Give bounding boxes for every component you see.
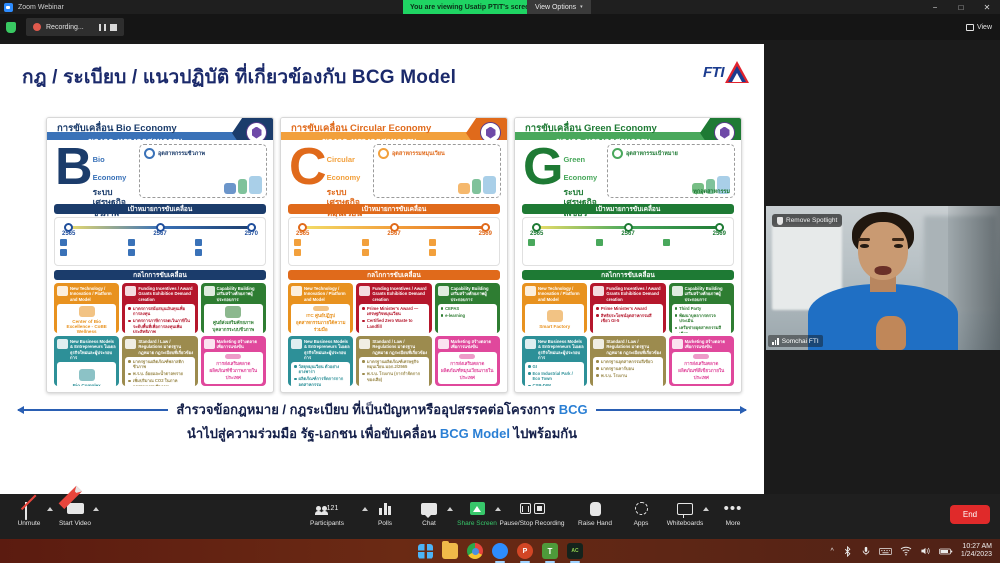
toolbar-whiteboards-button[interactable]: Whiteboards [658, 499, 712, 527]
toolbar-more-button[interactable]: •••More [706, 499, 760, 527]
timeline-bar [298, 226, 490, 229]
mechanism-cell: Standard / Law / Regulations มาตรฐาน กฎห… [590, 336, 665, 386]
milestone-icon [362, 239, 369, 246]
mechanism-header-text: New Technology / Innovation / Platform a… [538, 286, 584, 302]
mechanism-bullet-text: GI [533, 364, 537, 369]
mechanism-bullet-text: Third Party [679, 306, 701, 311]
mechanism-cell-body: CEPASe-learning [438, 304, 497, 333]
toolbar-icon-wrap [677, 499, 693, 518]
milestone-icon [528, 239, 535, 246]
mechanism-header-text: Funding Incentives / Award Grants Exhibi… [138, 286, 194, 302]
mechanism-icon [525, 286, 536, 296]
mechanism-cell: New Business Models & Entrepreneurs โมเด… [54, 336, 119, 386]
mechanism-bullet-text: Certified Zero Waste to Landfill [367, 318, 426, 329]
timeline-years: 256525672570 [62, 231, 258, 237]
timeline-milestone [294, 249, 359, 256]
speaker-brow-right [892, 238, 904, 241]
mechanism-cell-body: วัสดุหมุนเวียน ตัวอย่างยางพาราผลิตภัณฑ์ก… [291, 362, 350, 386]
remove-spotlight-button[interactable]: Remove Spotlight [772, 214, 842, 227]
recording-bar: Recording... View [0, 14, 1000, 40]
toolbar-start-video-label: Start Video [59, 520, 91, 527]
timeline-milestone [429, 249, 494, 256]
mechanism-bullet: Prime Minister's Award [596, 306, 659, 311]
mechanism-bullet-text: สิทธิประโยชน์อุตสาหกรรมสีเขียว GI-5 [601, 313, 660, 324]
timeline-year: 2570 [245, 231, 258, 237]
mechanism-cell-header: Funding Incentives / Award Grants Exhibi… [125, 286, 194, 302]
spotlight-icon [777, 217, 783, 225]
timeline-milestone-column [60, 239, 125, 259]
milestone-text [69, 239, 125, 246]
card-timeline-title: เป้าหมายการขับเคลื่อน [522, 204, 734, 214]
mechanism-bullet: วัสดุหมุนเวียน ตัวอย่างยางพารา [294, 364, 347, 375]
mechanism-cell-header: Capability Building เสริมสร้างศักยภาพผู้… [438, 286, 497, 302]
taskbar-clock[interactable]: 10:27 AM 1/24/2023 [961, 543, 992, 559]
chrome-icon[interactable] [467, 543, 483, 559]
mechanism-cell-header: New Technology / Innovation / Platform a… [291, 286, 350, 302]
timeline-milestone [60, 239, 125, 246]
participants-count: 121 [327, 505, 339, 512]
mechanism-illustration [79, 306, 95, 317]
mechanism-illustration [225, 306, 241, 318]
mechanism-icon [57, 339, 68, 349]
mechanism-bullet: มาตรฐานผลิตภัณฑ์พลาสติกชีวภาพ [128, 359, 191, 370]
timeline-milestone-column [294, 239, 359, 259]
mechanism-cell: New Technology / Innovation / Platform a… [522, 283, 587, 333]
timeline-milestone [362, 249, 427, 256]
mechanism-icon [204, 286, 215, 296]
mechanism-cell-body: มาตรฐานอุตสาหกรรมสีเขียวมาตรฐานคาร์บอนพ.… [593, 357, 662, 386]
milestone-text [204, 249, 260, 256]
mechanism-cell-header: Marketing สร้างตลาดเพื่อการแข่งขัน [204, 339, 263, 350]
mechanism-cell-body: Prime Minister's Award — เศรษฐกิจหมุนเวี… [359, 304, 428, 333]
recording-status-label: Recording... [46, 24, 84, 31]
system-tray: ^ 10:27 AM 1/24/2023 [831, 543, 992, 559]
mechanism-body-label: Center of Bio Excellence - CoBE Wellness [60, 319, 113, 333]
milestone-icon [60, 249, 67, 256]
card-name-en: GreenEconomy [563, 155, 597, 182]
infographic-card-b: การขับเคลื่อน Bio Economyของกระทรวงอุตสา… [46, 117, 274, 393]
mechanism-cell: Marketing สร้างตลาดเพื่อการแข่งขันการส่ง… [201, 336, 266, 386]
view-button[interactable]: View [966, 20, 992, 34]
timeline-milestone [362, 239, 427, 246]
mechanism-header-text: Standard / Law / Regulations มาตรฐาน กฎห… [372, 339, 428, 355]
toolbar-icon-wrap [520, 499, 545, 518]
close-button[interactable]: ✕ [974, 0, 1000, 14]
timeline-milestone [528, 239, 593, 246]
mechanism-bullet: มาตรฐานคาร์บอน [596, 366, 659, 371]
mechanism-cell: New Business Models & Entrepreneurs โมเด… [522, 336, 587, 386]
people-icon [316, 506, 327, 511]
autocad-icon[interactable]: AC [567, 543, 583, 559]
timeline-milestone-column [195, 239, 260, 259]
conclusion-line-2: นำไปสู่ความร่วมมือ รัฐ-เอกชน เพื่อขับเคล… [0, 423, 764, 444]
conclusion-line-1: สำรวจข้อกฎหมาย / กฎระเบียบ ที่เป็นปัญหาห… [168, 399, 595, 420]
timeline-year: 2567 [621, 231, 634, 237]
timeline-milestone [294, 239, 359, 246]
timeline-milestone [195, 249, 260, 256]
toolbar-icon-wrap [421, 499, 437, 518]
timeline-milestones [294, 239, 494, 259]
wifi-icon[interactable] [900, 546, 912, 556]
mechanism-icon [291, 339, 302, 349]
window-controls: − □ ✕ [922, 0, 1000, 14]
mechanism-bullet-text: Prime Minister's Award — เศรษฐกิจหมุนเวี… [367, 306, 426, 317]
timeline-milestone-column [596, 239, 661, 249]
milestone-icon [596, 239, 603, 246]
mechanism-bullet: Certified Zero Waste to Landfill [362, 318, 425, 329]
infographic-card-c: การขับเคลื่อน Circular Economyของกระทรวง… [280, 117, 508, 393]
card-goal-label-2: ทุกอุตสาหกรรม [693, 188, 730, 196]
mechanism-body-label: การส่งเสริมตลาดผลิตภัณฑ์ชีวภาพภายในประเท… [207, 361, 260, 382]
mechanism-header-text: Funding Incentives / Award Grants Exhibi… [606, 286, 662, 302]
speaker-brow-left [858, 238, 870, 241]
zoom-toolbar: End UnmuteStart Video121ParticipantsPoll… [0, 494, 1000, 539]
maximize-button[interactable]: □ [948, 0, 974, 14]
mechanism-bullet: มาตรฐานอุตสาหกรรมสีเขียว [596, 359, 659, 364]
speech-bubble-icon [421, 503, 437, 515]
mechanism-header-text: Standard / Law / Regulations มาตรฐาน กฎห… [606, 339, 662, 355]
milestone-icon [60, 239, 67, 246]
mechanism-icon [359, 339, 370, 349]
timeline-milestone-column [663, 239, 728, 249]
timeline-milestone [663, 239, 728, 246]
mechanism-bullet-text: พ.ร.บ. โรงงาน (การกำจัดกากของเสีย) [367, 371, 426, 382]
infographic-card-g: การขับเคลื่อน Green Economyของกระทรวงอุต… [514, 117, 742, 393]
stop-icon[interactable] [110, 24, 117, 31]
card-name-th: ระบบเศรษฐกิจชีวภาพ [93, 187, 127, 218]
mechanism-bullet: GI [528, 364, 581, 369]
ministry-seal-icon [480, 122, 501, 140]
card-hero: BBioEconomyระบบเศรษฐกิจชีวภาพอุตสาหกรรมช… [47, 140, 273, 204]
mechanism-cell: New Business Models & Entrepreneurs โมเด… [288, 336, 353, 386]
speaker-eye-left [860, 244, 869, 248]
clock-time: 10:27 AM [962, 543, 992, 550]
mechanism-cell-body: Center of Bio Excellence - CoBE Wellness [57, 304, 116, 333]
zoom-webinar-window: Zoom Webinar You are viewing Usatip PTIT… [0, 0, 1000, 563]
mechanism-icon [204, 339, 215, 349]
mechanism-icon [125, 286, 136, 296]
mechanism-body-label: การส่งเสริมตลาดผลิตภัณฑ์สีเขียวภายในประเ… [675, 361, 728, 382]
toolbar-participants-label: Participants [310, 520, 344, 527]
zoom-logo-icon [4, 3, 13, 12]
mechanism-bullet-text: มาตรฐานคาร์บอน [601, 366, 634, 371]
toolbar-icon-wrap [67, 499, 84, 518]
mechanism-icon [438, 339, 449, 349]
mechanism-cell: Standard / Law / Regulations มาตรฐาน กฎห… [356, 336, 431, 386]
audio-signal-icon [772, 338, 779, 345]
mechanism-cell-body: Third Partyพัฒนาบุคลากรตรวจประเมินเครือข… [672, 304, 731, 333]
mechanism-header-text: Capability Building เสริมสร้างศักยภาพผู้… [217, 286, 263, 302]
milestone-icon [294, 249, 301, 256]
timeline-milestone [128, 239, 193, 246]
toolbar-icon-wrap [379, 499, 391, 518]
mechanism-cell-body: มาตรฐานผลิตภัณฑ์เศรษฐกิจหมุนเวียน มอก.2/… [359, 357, 428, 386]
mechanism-bullet-text: ผลิตภัณฑ์การจัดการกากอุตสาหกรรม [299, 376, 348, 386]
timeline-milestones [528, 239, 728, 249]
milestone-text [69, 249, 125, 256]
milestone-icon [429, 239, 436, 246]
card-mechanism-title: กลไกการขับเคลื่อน [288, 270, 500, 280]
show-hidden-icons-button[interactable]: ^ [831, 548, 834, 555]
arrow-left-icon [18, 409, 168, 411]
mechanism-cell-header: Marketing สร้างตลาดเพื่อการแข่งขัน [438, 339, 497, 350]
mechanism-body-label: การส่งเสริมตลาดผลิตภัณฑ์หมุนเวียนภายในปร… [441, 361, 494, 382]
mechanism-body-label: Smart Factory [539, 324, 570, 329]
card-goal: อุตสาหกรรมเป้าหมาย [612, 148, 730, 159]
ellipsis-icon: ••• [724, 505, 743, 513]
mechanism-illustration [225, 354, 241, 359]
target-icon [378, 148, 389, 159]
fti-triangle-icon [725, 61, 750, 84]
milestone-icon [128, 249, 135, 256]
mechanism-bullet: สิทธิประโยชน์อุตสาหกรรมสีเขียว GI-5 [596, 313, 659, 324]
mechanism-bullet-text: พัฒนาบุคลากรตรวจประเมิน [679, 313, 728, 324]
powerpoint-icon[interactable]: P [517, 543, 533, 559]
chevron-down-icon: ▾ [580, 4, 583, 10]
mechanism-header-text: New Technology / Innovation / Platform a… [304, 286, 350, 302]
timeline-milestone [60, 249, 125, 256]
mechanism-bullet-text: พ.ร.บ. โรงงาน [601, 373, 627, 378]
speaker-eye-right [894, 244, 903, 248]
minimize-button[interactable]: − [922, 0, 948, 14]
mechanism-bullet-text: เพิ่มปริมาณ CO2 ในภาคอุตสาหกรรมชีวภาพ [133, 378, 192, 386]
mechanism-header-text: New Technology / Innovation / Platform a… [70, 286, 116, 302]
card-timeline: 256525672569 [522, 217, 734, 266]
card-name-th: ระบบเศรษฐกิจหมุนเวียน [327, 187, 363, 218]
mechanism-cell: Funding Incentives / Award Grants Exhibi… [356, 283, 431, 333]
windows-logo-icon[interactable] [418, 544, 433, 559]
card-goal-box: อุตสาหกรรมหมุนเวียน [373, 144, 501, 198]
toolbar-share-screen-button[interactable]: Share Screen [450, 499, 504, 527]
card-mechanism-grid: New Technology / Innovation / Platform a… [288, 283, 500, 386]
milestone-text [672, 239, 728, 246]
timeline-milestone-column [128, 239, 193, 259]
target-icon [612, 148, 623, 159]
timeline-year: 2565 [296, 231, 309, 237]
mechanism-illustration [547, 310, 563, 322]
record-dot-icon [33, 23, 41, 31]
card-hero: CCircularEconomyระบบเศรษฐกิจหมุนเวียนอุต… [281, 140, 507, 204]
card-mechanism-title: กลไกการขับเคลื่อน [522, 270, 734, 280]
mechanism-bullet-text: มาตรฐานผลิตภัณฑ์พลาสติกชีวภาพ [133, 359, 192, 370]
mechanism-bullet-text: CSR-DIW [533, 383, 551, 386]
mechanism-bullet: CEPAS [441, 306, 494, 311]
keyboard-icon[interactable] [879, 547, 892, 556]
toolbar-icon-wrap [590, 499, 601, 518]
ministry-seal-icon [714, 122, 735, 140]
mechanism-cell-header: New Business Models & Entrepreneurs โมเด… [525, 339, 584, 360]
mechanism-cell-header: Standard / Law / Regulations มาตรฐาน กฎห… [593, 339, 662, 355]
mechanism-cell-body: ITC ศูนย์ปฏิรูปอุตสาหกรรมภายใต้ความร่วมม… [291, 304, 350, 333]
mechanism-bullet: พ.ร.บ. โรงงาน (การกำจัดกากของเสีย) [362, 371, 425, 382]
card-header: การขับเคลื่อน Green Economyของกระทรวงอุต… [515, 118, 741, 140]
toolbar-chat-label: Chat [422, 520, 436, 527]
windows-taskbar: PTAC ^ 10:27 AM 1/24/2023 [0, 539, 1000, 563]
microphone-icon[interactable] [861, 545, 871, 557]
camera-muted-icon [67, 503, 84, 514]
toolbar-icon-wrap [470, 499, 485, 518]
toolbar-chat-button[interactable]: Chat [402, 499, 456, 527]
toolbar-icon-wrap: 121 [316, 499, 339, 518]
timeline-milestone-column [429, 239, 494, 259]
timeline-milestone-column [362, 239, 427, 259]
timeline-milestone [195, 239, 260, 246]
toolbar-start-video-button[interactable]: Start Video [48, 499, 102, 527]
fti-logo: FTI [703, 61, 750, 84]
mechanism-cell: Standard / Law / Regulations มาตรฐาน กฎห… [122, 336, 197, 386]
volume-icon[interactable] [920, 546, 931, 556]
card-goal-label: อุตสาหกรรมชีวภาพ [158, 150, 205, 158]
timeline-milestone [128, 249, 193, 256]
card-hero-text: CircularEconomyระบบเศรษฐกิจหมุนเวียน [327, 145, 363, 204]
toolbar-pause-stop-recording-button[interactable]: Pause/Stop Recording [505, 499, 559, 527]
end-button[interactable]: End [950, 505, 990, 524]
card-hero-text: BioEconomyระบบเศรษฐกิจชีวภาพ [93, 145, 127, 204]
participant-name: Somchai FTI [782, 338, 819, 345]
milestone-text [303, 249, 359, 256]
card-name-en: CircularEconomy [327, 155, 361, 182]
toolbar-participants-button[interactable]: 121Participants [300, 499, 354, 527]
hand-icon [590, 502, 601, 516]
mechanism-body-label: ศูนย์ส่งเสริมศักยภาพบุคลากรระบบชีวภาพ [207, 320, 260, 333]
mechanism-bullet: Prime Minister's Award — เศรษฐกิจหมุนเวี… [362, 306, 425, 317]
mechanism-bullet-text: Prime Minister's Award [601, 306, 647, 311]
milestone-icon [294, 239, 301, 246]
mechanism-cell: Capability Building เสริมสร้างศักยภาพผู้… [201, 283, 266, 333]
recording-indicator: Recording... [26, 18, 124, 36]
card-big-letter: C [289, 145, 325, 204]
bluetooth-icon[interactable] [842, 546, 853, 557]
card-hero-illustration [458, 176, 496, 194]
infographic-cards: การขับเคลื่อน Bio Economyของกระทรวงอุตสา… [46, 117, 742, 393]
mechanism-bullet: ผลิตภัณฑ์การจัดการกากอุตสาหกรรม [294, 376, 347, 386]
card-hero-text: GreenEconomyระบบเศรษฐกิจสีเขียว [563, 145, 597, 204]
milestone-text [605, 239, 661, 246]
view-options-button[interactable]: View Options ▾ [527, 0, 591, 14]
mechanism-cell-body: การส่งเสริมตลาดผลิตภัณฑ์หมุนเวียนภายในปร… [438, 352, 497, 384]
mechanism-bullet-text: Eco Industrial Park / Eco Town [533, 371, 582, 382]
toolbar-start-video-chevron-up-icon[interactable] [93, 507, 99, 511]
toolbar-share-screen-chevron-up-icon[interactable] [495, 507, 501, 511]
timeline-year: 2565 [62, 231, 75, 237]
mechanism-cell-header: New Business Models & Entrepreneurs โมเด… [291, 339, 350, 360]
card-timeline-title: เป้าหมายการขับเคลื่อน [54, 204, 266, 214]
timeline-bar [532, 226, 724, 229]
mechanism-cell-body: Prime Minister's Awardสิทธิประโยชน์อุตสา… [593, 304, 662, 333]
mechanism-icon [125, 339, 136, 349]
card-goal: อุตสาหกรรมหมุนเวียน [378, 148, 496, 159]
mechanism-body-label: Bio Complex [73, 383, 101, 387]
mechanism-illustration [693, 354, 709, 359]
milestone-text [438, 239, 494, 246]
milestone-icon [362, 249, 369, 256]
share-screen-icon [470, 502, 485, 515]
milestone-text [537, 239, 593, 246]
mechanism-bullet-text: วัสดุหมุนเวียน ตัวอย่างยางพารา [299, 364, 348, 375]
mechanism-cell-header: New Technology / Innovation / Platform a… [525, 286, 584, 302]
mechanism-header-text: Marketing สร้างตลาดเพื่อการแข่งขัน [217, 339, 263, 350]
mechanism-icon [525, 339, 536, 349]
mechanism-bullet: Third Party [675, 306, 728, 311]
timeline-years: 256525672569 [530, 231, 726, 237]
mechanism-cell-header: Funding Incentives / Award Grants Exhibi… [359, 286, 428, 302]
target-icon [144, 148, 155, 159]
card-goal-label: อุตสาหกรรมเป้าหมาย [626, 150, 678, 158]
mechanism-icon [359, 286, 370, 296]
mechanism-cell-body: การส่งเสริมตลาดผลิตภัณฑ์สีเขียวภายในประเ… [672, 352, 731, 384]
window-title: Zoom Webinar [18, 4, 64, 11]
pause-icon[interactable] [99, 24, 106, 31]
mechanism-icon [593, 286, 604, 296]
screen-share-banner: You are viewing Usatip PTIT's screen [403, 0, 540, 14]
mechanism-cell-header: Capability Building เสริมสร้างศักยภาพผู้… [672, 286, 731, 302]
apps-icon [635, 502, 648, 515]
card-goal-box: อุตสาหกรรมชีวภาพ [139, 144, 267, 198]
card-timeline: 256525672569 [288, 217, 500, 266]
timeline-year: 2567 [153, 231, 166, 237]
mechanism-header-text: Marketing สร้างตลาดเพื่อการแข่งขัน [451, 339, 497, 350]
speaker-mouth [875, 266, 892, 275]
teams-icon[interactable]: T [542, 543, 558, 559]
taskbar-apps: PTAC [418, 543, 583, 559]
toolbar-pause-stop-recording-label: Pause/Stop Recording [499, 520, 564, 527]
mechanism-cell: Capability Building เสริมสร้างศักยภาพผู้… [669, 283, 734, 333]
mechanism-illustration [313, 306, 329, 311]
mechanism-cell-header: Standard / Law / Regulations มาตรฐาน กฎห… [125, 339, 194, 355]
mechanism-bullet: เครือข่ายอุตสาหกรรมสีเขียว [675, 325, 728, 333]
view-options-label: View Options [535, 4, 576, 11]
mechanism-header-text: Capability Building เสริมสร้างศักยภาพผู้… [451, 286, 497, 302]
toolbar-share-screen-label: Share Screen [457, 520, 497, 527]
clock-date: 1/24/2023 [961, 551, 992, 558]
mechanism-header-text: New Business Models & Entrepreneurs โมเด… [304, 339, 350, 360]
mechanism-cell: Funding Incentives / Award Grants Exhibi… [122, 283, 197, 333]
folder-icon[interactable] [442, 543, 458, 559]
card-timeline: 256525672570 [54, 217, 266, 266]
milestone-icon [429, 249, 436, 256]
mechanism-header-text: Capability Building เสริมสร้างศักยภาพผู้… [685, 286, 731, 302]
timeline-year: 2565 [530, 231, 543, 237]
mechanism-bullet-text: มาตรฐานผลิตภัณฑ์เศรษฐกิจหมุนเวียน มอก.2/… [367, 359, 426, 370]
milestone-text [371, 239, 427, 246]
milestone-icon [195, 239, 202, 246]
mechanism-bullet: e-learning [441, 313, 494, 318]
mechanism-bullet-text: พ.ร.บ. อ้อยและน้ำตาลทราย [133, 371, 183, 376]
battery-icon[interactable] [939, 547, 953, 556]
mechanism-cell-body: มาตรการสนับสนุนเงินทุนเพื่อการลงทุนมาตรก… [125, 304, 194, 333]
bar-chart-icon [379, 502, 391, 515]
conclusion-block: สำรวจข้อกฎหมาย / กฎระเบียบ ที่เป็นปัญหาห… [0, 399, 764, 444]
timeline-milestones [60, 239, 260, 259]
timeline-milestone [596, 239, 661, 246]
mechanism-cell-body: Smart Factory [525, 304, 584, 333]
timeline-year: 2567 [387, 231, 400, 237]
card-big-letter: G [523, 145, 561, 204]
participant-name-badge: Somchai FTI [768, 335, 823, 347]
mechanism-cell-body: มาตรฐานผลิตภัณฑ์พลาสติกชีวภาพพ.ร.บ. อ้อย… [125, 357, 194, 386]
mechanism-cell: Funding Incentives / Award Grants Exhibi… [590, 283, 665, 333]
toolbar-icon-wrap: ••• [724, 499, 743, 518]
zoom-icon[interactable] [492, 543, 508, 559]
mechanism-cell-body: ศูนย์ส่งเสริมศักยภาพบุคลากรระบบชีวภาพ [204, 304, 263, 333]
toolbar-whiteboards-label: Whiteboards [667, 520, 704, 527]
card-mechanism-grid: New Technology / Innovation / Platform a… [54, 283, 266, 386]
view-button-label: View [977, 24, 992, 31]
mechanism-cell: Marketing สร้างตลาดเพื่อการแข่งขันการส่ง… [435, 336, 500, 386]
toolbar-icon-wrap [635, 499, 648, 518]
mechanism-cell-header: Funding Incentives / Award Grants Exhibi… [593, 286, 662, 302]
speaker-video-panel[interactable]: Remove Spotlight Somchai FTI [766, 206, 1000, 350]
